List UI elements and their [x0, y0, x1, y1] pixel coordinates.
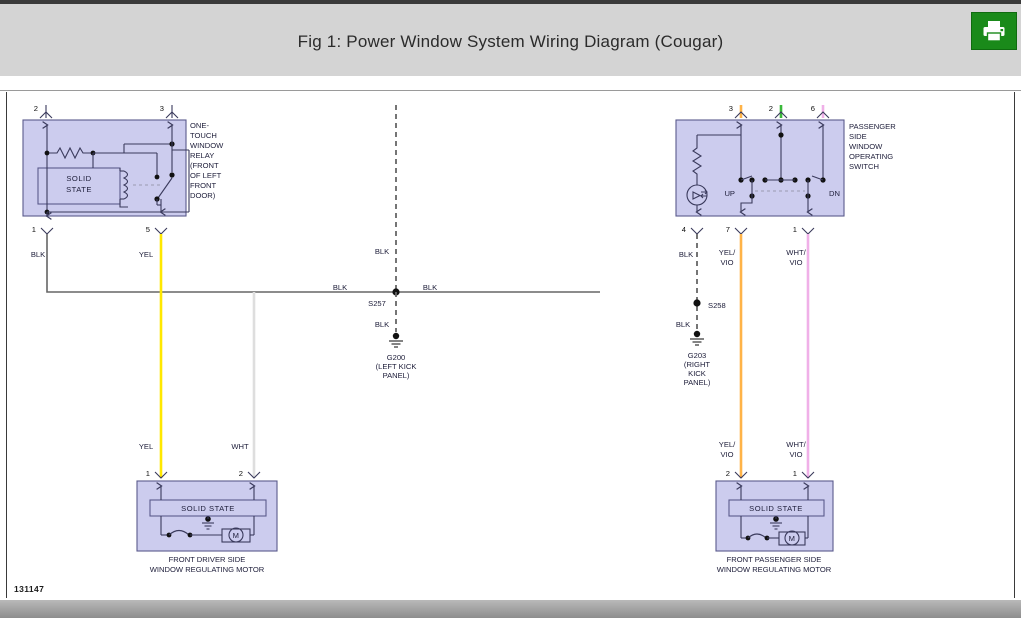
- relay-inner-label-1: SOLID: [66, 174, 91, 183]
- switch-pin-7-number: 7: [726, 225, 730, 234]
- left-wires: YEL WHT: [47, 234, 600, 478]
- relay-caption-line-5: (FRONT: [190, 161, 219, 170]
- switch-pin-1-wire-label-1: WHT/: [786, 248, 806, 257]
- switch-pin-6-number: 6: [811, 104, 815, 113]
- switch-pin-7-wire-label-1: YEL/: [719, 248, 736, 257]
- g203-wire-label: BLK: [676, 320, 690, 329]
- switch-contact-up-label: UP: [724, 189, 735, 198]
- switch-contact-dn-label: DN: [829, 189, 840, 198]
- relay-caption-line-7: FRONT: [190, 181, 217, 190]
- driver-yel-wire-label: YEL: [139, 442, 153, 451]
- driver-motor-pin-1-number: 1: [146, 469, 150, 478]
- g200-id: G200: [387, 353, 406, 362]
- passenger-motor-caption-line-2: WINDOW REGULATING MOTOR: [717, 565, 832, 574]
- relay-pin-2-number: 2: [34, 104, 38, 113]
- one-touch-window-relay: SOLID STATE: [23, 104, 224, 259]
- relay-caption-line-3: WINDOW: [190, 141, 224, 150]
- switch-pin-4-wire-label: BLK: [679, 250, 693, 259]
- relay-caption-line-6: OF LEFT: [190, 171, 222, 180]
- relay-pin-3-number: 3: [160, 104, 164, 113]
- passenger-side-window-operating-switch: UP DN 3 2 6 PASSENGER SIDE WINDOW OPERAT…: [676, 104, 896, 267]
- switch-pin-1-wire-label-2: VIO: [789, 258, 802, 267]
- switch-pin-1-number: 1: [793, 225, 797, 234]
- bus-left-wire-label: BLK: [333, 283, 347, 292]
- passenger-motor-symbol: M: [789, 534, 796, 543]
- g200-location-line-2: PANEL): [383, 371, 410, 380]
- switch-pin-3-number: 3: [729, 104, 733, 113]
- front-driver-side-window-regulating-motor: 1 2 SOLID STATE M F: [137, 469, 277, 574]
- driver-wht-wire-label: WHT: [231, 442, 249, 451]
- g203-id: G203: [688, 351, 707, 360]
- image-id: 131147: [14, 584, 44, 594]
- passenger-motor-caption-line-1: FRONT PASSENGER SIDE: [727, 555, 822, 564]
- relay-pin-5-number: 5: [146, 225, 150, 234]
- passenger-motor-pin-1-number: 1: [793, 469, 797, 478]
- switch-pin-4-number: 4: [682, 225, 686, 234]
- pm-yel-wire-label-1: YEL/: [719, 440, 736, 449]
- switch-caption-line-5: SWITCH: [849, 162, 879, 171]
- splice-s258-dot: [693, 299, 700, 306]
- switch-pin-7-wire-label-2: VIO: [720, 258, 733, 267]
- front-passenger-side-window-regulating-motor: 2 1 SOLID STATE M FRONT PASSENGE: [716, 469, 833, 574]
- driver-motor-caption-line-2: WINDOW REGULATING MOTOR: [150, 565, 265, 574]
- driver-motor-caption-line-1: FRONT DRIVER SIDE: [169, 555, 246, 564]
- relay-caption-line-8: DOOR): [190, 191, 216, 200]
- ground-g200-group: BLK BLK BLK S257 BLK G200 (LEFT KICK PAN…: [333, 105, 437, 380]
- pm-wht-wire-label-2: VIO: [789, 450, 802, 459]
- switch-caption-line-4: OPERATING: [849, 152, 893, 161]
- pm-wht-wire-label-1: WHT/: [786, 440, 806, 449]
- switch-caption-line-3: WINDOW: [849, 142, 883, 151]
- g203-location-line-1: (RIGHT: [684, 360, 711, 369]
- diagram-page: Fig 1: Power Window System Wiring Diagra…: [0, 0, 1021, 618]
- g200-location-line-1: (LEFT KICK: [376, 362, 417, 371]
- passenger-motor-inner-label: SOLID STATE: [749, 504, 803, 513]
- g203-location-line-3: PANEL): [684, 378, 711, 387]
- g200-wire-label: BLK: [375, 320, 389, 329]
- switch-caption-line-1: PASSENGER: [849, 122, 896, 131]
- driver-motor-inner-label: SOLID STATE: [181, 504, 235, 513]
- wiring-diagram: .cmpbox{fill:#ccccee;stroke:#5a5a8c;stro…: [0, 0, 1021, 618]
- g203-location-line-2: KICK: [688, 369, 706, 378]
- switch-caption-line-2: SIDE: [849, 132, 867, 141]
- bus-right-wire-label: BLK: [423, 283, 437, 292]
- splice-s257-label: S257: [368, 299, 386, 308]
- switch-pin-2-number: 2: [769, 104, 773, 113]
- splice-s258-label: S258: [708, 301, 726, 310]
- passenger-motor-pin-2-number: 2: [726, 469, 730, 478]
- relay-caption-line-4: RELAY: [190, 151, 214, 160]
- driver-motor-pin-2-number: 2: [239, 469, 243, 478]
- pm-yel-wire-label-2: VIO: [720, 450, 733, 459]
- driver-motor-symbol: M: [233, 531, 240, 540]
- relay-inner-label-2: STATE: [66, 185, 92, 194]
- center-top-wire-label: BLK: [375, 247, 389, 256]
- relay-caption-line-2: TOUCH: [190, 131, 217, 140]
- right-wires: YEL/ VIO WHT/ VIO: [719, 234, 808, 478]
- relay-pin-5-wire-label: YEL: [139, 250, 153, 259]
- relay-pin-1-number: 1: [32, 225, 36, 234]
- relay-caption-line-1: ONE-: [190, 121, 209, 130]
- relay-pin-1-wire-label: BLK: [31, 250, 45, 259]
- bottom-bar: [0, 600, 1021, 618]
